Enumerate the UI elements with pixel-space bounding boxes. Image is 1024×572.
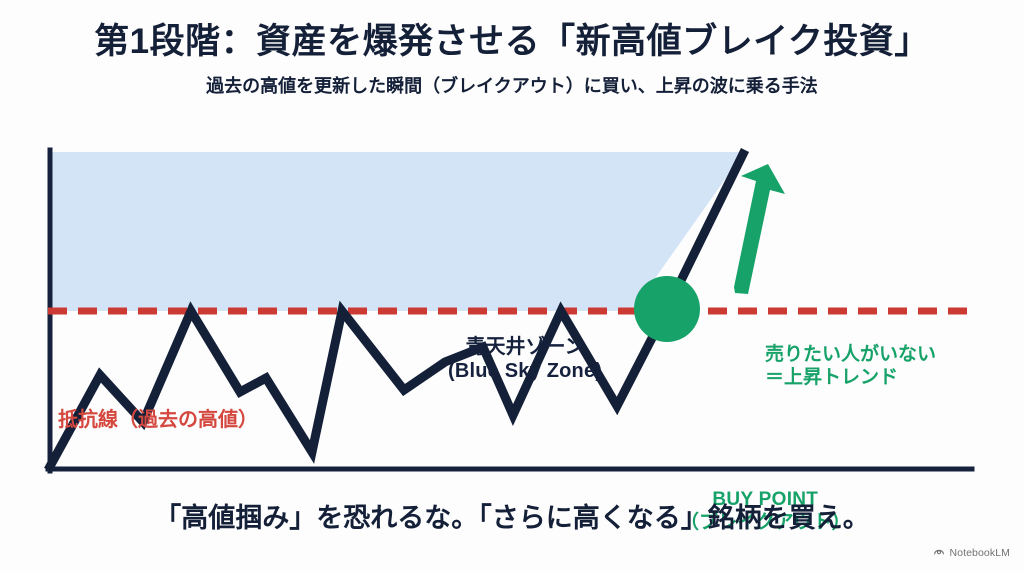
watermark-label: NotebookLM bbox=[949, 547, 1010, 559]
slide-canvas: 第1段階：資産を爆発させる「新高値ブレイク投資」 過去の高値を更新した瞬間（ブレ… bbox=[0, 0, 1024, 572]
blue-sky-zone-label: 青天井ゾーン (Blue Sky Zone) bbox=[448, 335, 602, 384]
watermark: NotebookLM bbox=[933, 544, 1010, 562]
footer: 「高値掴み」を恐れるな。「さらに高くなる」銘柄を買え。 bbox=[0, 496, 1024, 535]
blue-sky-zone-label-jp: 青天井ゾーン bbox=[466, 336, 585, 358]
uptrend-label: 売りたい人がいない ＝上昇トレンド bbox=[765, 343, 936, 389]
chart-svg bbox=[0, 140, 1024, 490]
resistance-label: 抵抗線（過去の高値） bbox=[58, 408, 258, 432]
uptrend-label-line1: 売りたい人がいない bbox=[765, 344, 936, 365]
footer-caption: 「高値掴み」を恐れるな。「さらに高くなる」銘柄を買え。 bbox=[0, 496, 1024, 535]
blue-sky-zone-region bbox=[48, 152, 972, 311]
page-subtitle: 過去の高値を更新した瞬間（ブレイクアウト）に買い、上昇の波に乗る手法 bbox=[0, 76, 1024, 98]
page-title: 第1段階：資産を爆発させる「新高値ブレイク投資」 bbox=[0, 22, 1024, 62]
notebooklm-logo-icon bbox=[933, 544, 945, 562]
blue-sky-zone-label-en: (Blue Sky Zone) bbox=[448, 359, 602, 383]
uptrend-arrow-shape bbox=[734, 164, 785, 294]
uptrend-label-line2: ＝上昇トレンド bbox=[765, 366, 936, 389]
buy-point-marker[interactable] bbox=[634, 276, 700, 342]
breakout-chart: 抵抗線（過去の高値） 青天井ゾーン (Blue Sky Zone) 売りたい人が… bbox=[0, 140, 1024, 490]
header: 第1段階：資産を爆発させる「新高値ブレイク投資」 過去の高値を更新した瞬間（ブレ… bbox=[0, 22, 1024, 98]
